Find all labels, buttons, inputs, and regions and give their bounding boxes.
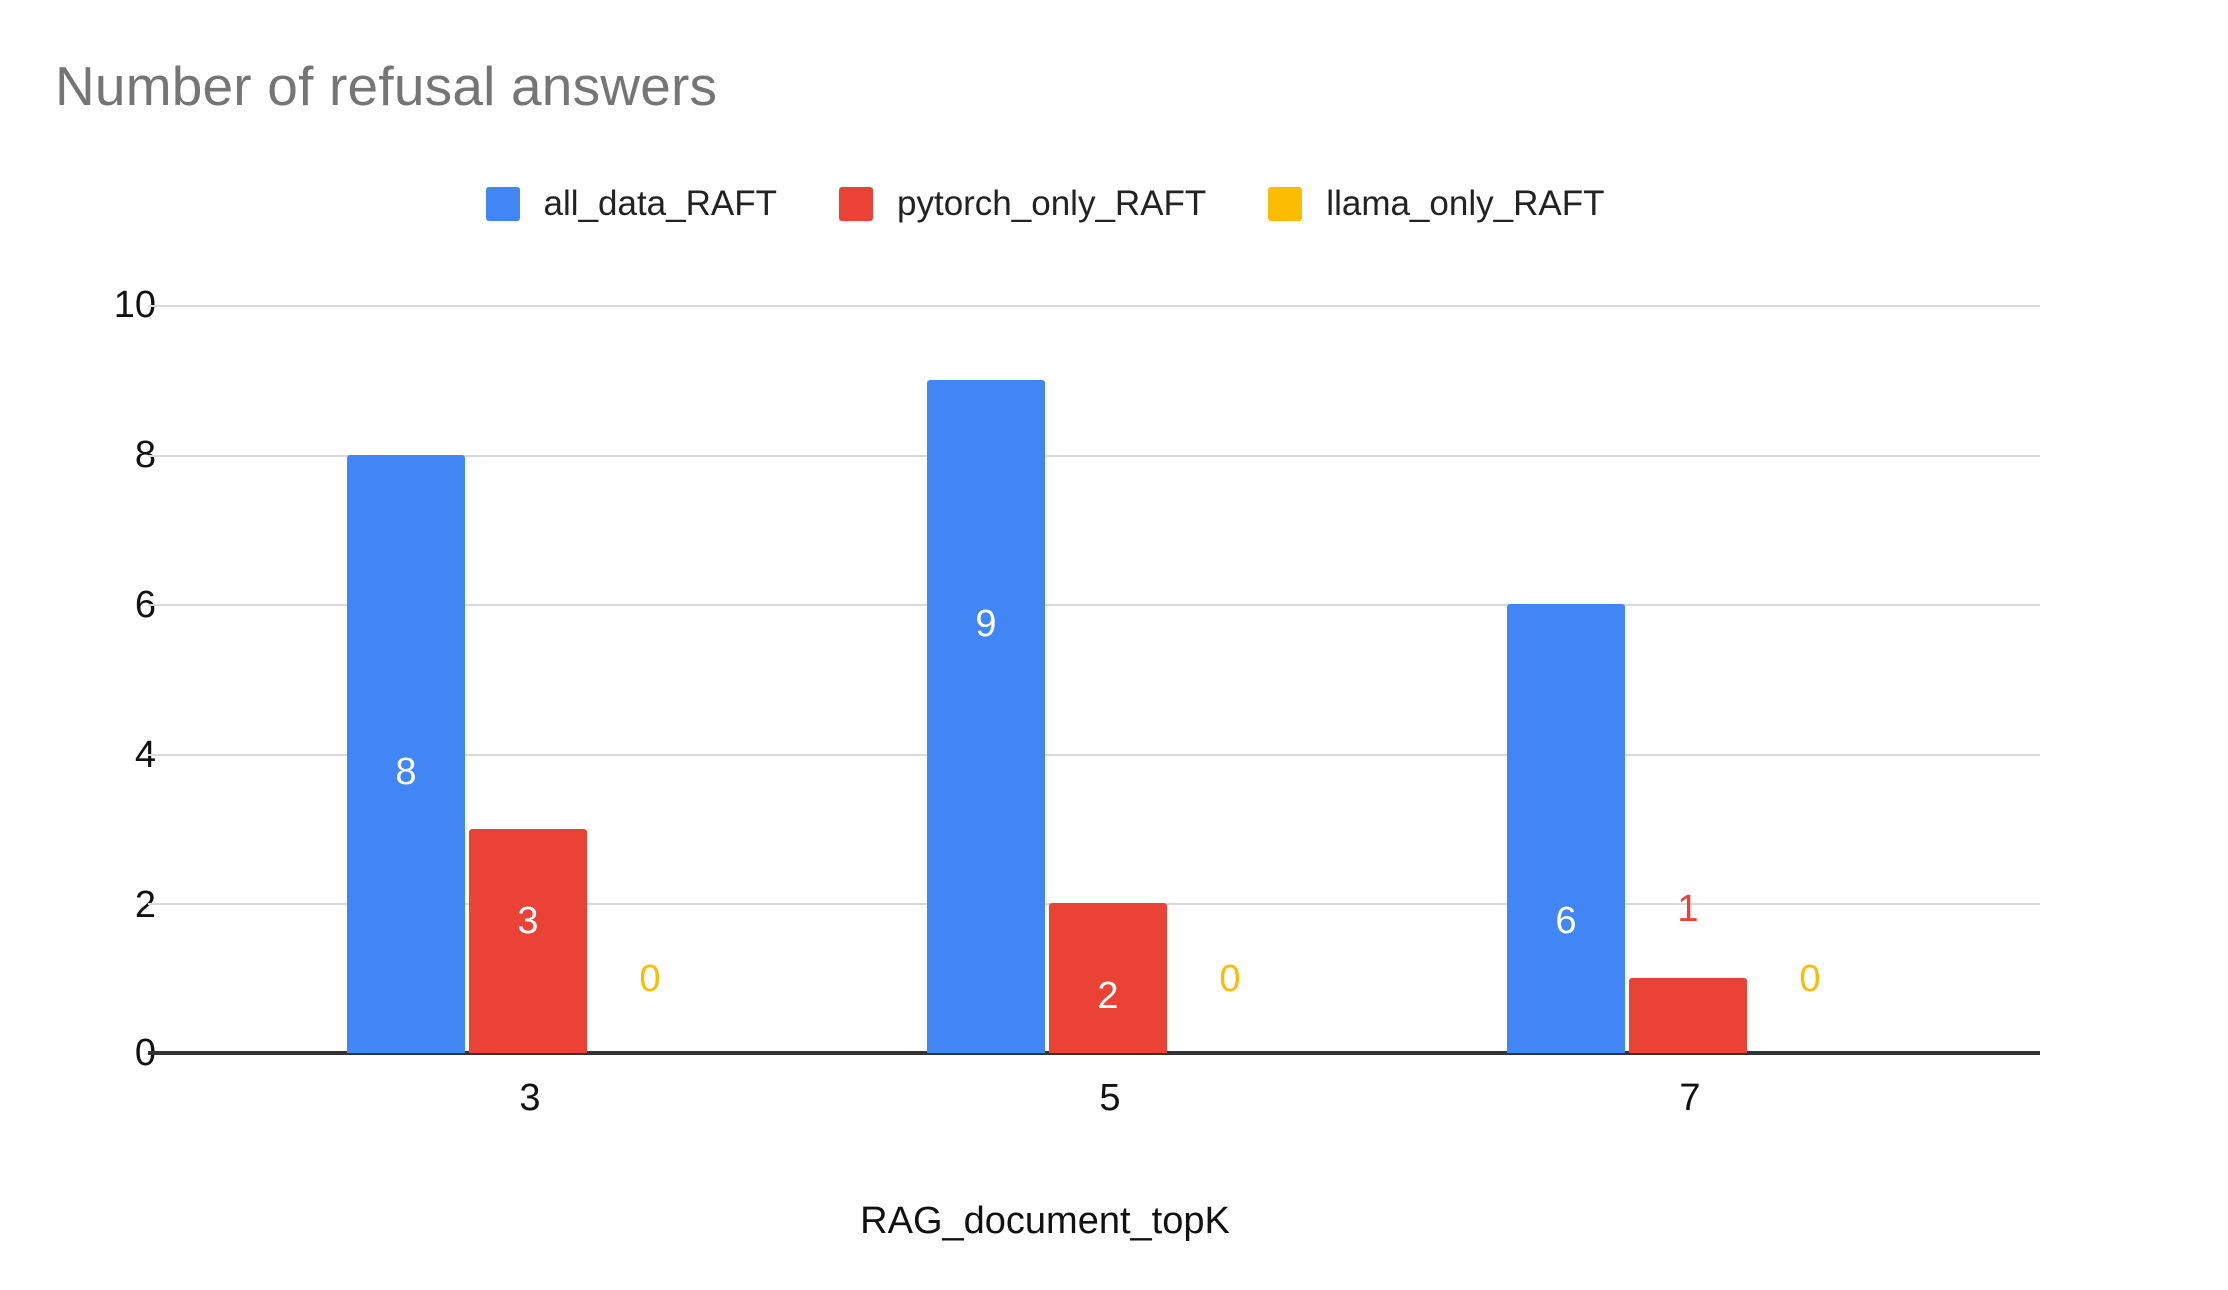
legend-item-llama-only-raft[interactable]: llama_only_RAFT: [1268, 185, 1604, 223]
bar-label-all-data-raft-5: 9: [975, 605, 996, 643]
legend-label-pytorch-only-raft: pytorch_only_RAFT: [897, 185, 1206, 223]
chart-title: Number of refusal answers: [55, 52, 717, 120]
bar-all-data-raft-7[interactable]: [1507, 604, 1625, 1053]
bar-all-data-raft-5[interactable]: [927, 380, 1045, 1053]
x-axis-title: RAG_document_topK: [0, 1200, 2090, 1242]
legend-label-llama-only-raft: llama_only_RAFT: [1326, 185, 1604, 223]
bar-label-pytorch-only-raft-3: 3: [517, 902, 538, 940]
bar-label-all-data-raft-7: 6: [1555, 902, 1576, 940]
bar-chart: Number of refusal answers all_data_RAFT …: [0, 0, 2228, 1290]
bar-label-llama-only-raft-5: 0: [1219, 960, 1240, 998]
bar-pytorch-only-raft-7[interactable]: [1629, 978, 1747, 1053]
bar-label-llama-only-raft-7: 0: [1799, 960, 1820, 998]
bar-label-pytorch-only-raft-7: 1: [1677, 890, 1698, 928]
bar-label-all-data-raft-3: 8: [395, 753, 416, 791]
legend-label-all-data-raft: all_data_RAFT: [544, 185, 777, 223]
bar-label-llama-only-raft-3: 0: [639, 960, 660, 998]
legend-swatch-icon-pytorch-only-raft: [839, 187, 873, 221]
plot-area: 8 3 0 9 2 0 6 1 0: [148, 305, 2040, 1053]
bar-label-pytorch-only-raft-5: 2: [1097, 977, 1118, 1015]
legend-swatch-icon-llama-only-raft: [1268, 187, 1302, 221]
chart-legend: all_data_RAFT pytorch_only_RAFT llama_on…: [0, 185, 2090, 223]
legend-item-all-data-raft[interactable]: all_data_RAFT: [486, 185, 777, 223]
x-tick-label-3: 3: [519, 1078, 540, 1118]
legend-swatch-icon-all-data-raft: [486, 187, 520, 221]
legend-item-pytorch-only-raft[interactable]: pytorch_only_RAFT: [839, 185, 1206, 223]
x-tick-label-5: 5: [1099, 1078, 1120, 1118]
x-tick-label-7: 7: [1679, 1078, 1700, 1118]
gridline-10: [148, 305, 2040, 307]
